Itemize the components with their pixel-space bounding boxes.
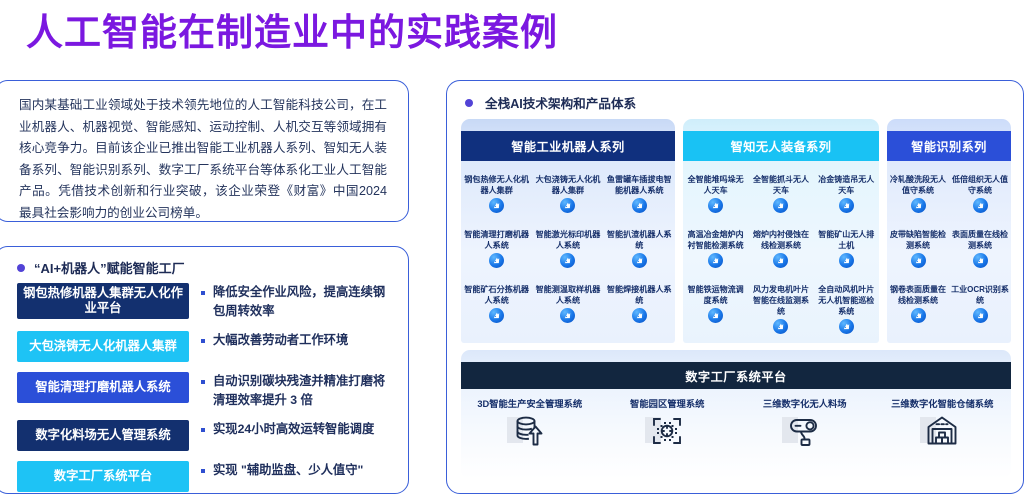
robot-arm-icon xyxy=(914,256,923,265)
product-cell[interactable]: 智能清理打磨机器人系统 xyxy=(461,224,532,279)
bullet-dot-icon xyxy=(17,264,25,272)
intro-panel: 国内某基础工业领域处于技术领先地位的人工智能科技公司，在工业机器人、机器视觉、智… xyxy=(0,80,409,222)
product-label: 智能测温取样机器人系统 xyxy=(534,284,601,306)
product-label: 智能铁运物流调度系统 xyxy=(685,284,746,306)
robot-arm-icon xyxy=(560,308,575,323)
robot-arm-icon xyxy=(632,308,647,323)
robot-arm-icon xyxy=(560,253,575,268)
robot-arm-icon xyxy=(839,198,854,213)
robot-arm-icon xyxy=(632,198,647,213)
platform-item[interactable]: 3D智能生产安全管理系统 xyxy=(461,398,599,447)
robot-arm-icon xyxy=(563,311,572,320)
product-cell[interactable]: 全智能堆吗垛无人天车 xyxy=(683,169,748,224)
platform-item[interactable]: 三维数字化无人料场 xyxy=(736,398,874,447)
product-cell[interactable]: 低倍组织无人值守系统 xyxy=(949,169,1011,224)
product-cell[interactable]: 智能激光标印机器人系统 xyxy=(532,224,603,279)
bullet-dot-icon xyxy=(465,99,473,107)
slide-root: 人工智能在制造业中的实践案例 国内某基础工业领域处于技术领先地位的人工智能科技公… xyxy=(0,0,1024,497)
product-cell[interactable]: 智能焊接机器人系统 xyxy=(604,279,675,334)
robot-arm-icon xyxy=(560,198,575,213)
column-grid: 冷轧酸洗段无人值守系统低倍组织无人值守系统皮带缺陷智能检测系统表面质量在线检测系… xyxy=(887,161,1011,343)
robot-arm-icon xyxy=(973,253,988,268)
product-label: 智能矿山无人排土机 xyxy=(816,229,877,251)
column-title: 智能工业机器人系列 xyxy=(461,131,675,161)
robot-arm-icon xyxy=(773,253,788,268)
left-row: 数字工厂系统平台实现 "辅助监盘、少人值守" xyxy=(17,461,389,492)
chip-description-text: 自动识别碳块残渣并精准打磨将清理效率提升 3 倍 xyxy=(213,372,389,410)
product-chip[interactable]: 数字工厂系统平台 xyxy=(17,461,189,492)
product-label: 全自动风机叶片无人机智能巡检系统 xyxy=(816,284,877,317)
robot-arm-icon xyxy=(776,322,785,331)
column-title: 智知无人装备系列 xyxy=(683,131,879,161)
robot-arm-icon xyxy=(973,198,988,213)
chip-description: 实现24小时高效运转智能调度 xyxy=(201,420,389,439)
intro-paragraph: 国内某基础工业领域处于技术领先地位的人工智能科技公司，在工业机器人、机器视觉、智… xyxy=(19,95,387,224)
chip-description: 大幅改善劳动者工作环境 xyxy=(201,331,389,350)
product-cell[interactable]: 冷轧酸洗段无人值守系统 xyxy=(887,169,949,224)
product-chip[interactable]: 大包浇铸无人化机器人集群 xyxy=(17,331,189,362)
left-list-panel: “AI+机器人”赋能智能工厂 钢包热修机器人集群无人化作业平台降低安全作业风险，… xyxy=(0,246,409,494)
robot-arm-icon xyxy=(708,308,723,323)
product-cell[interactable]: 大包浇铸无人化机器人集群 xyxy=(532,169,603,224)
product-cell[interactable]: 智能矿山无人排土机 xyxy=(814,224,879,279)
product-cell[interactable]: 钢包热修无人化机器人集群 xyxy=(461,169,532,224)
product-label: 智能矿石分拣机器人系统 xyxy=(463,284,530,306)
robot-arm-icon xyxy=(563,256,572,265)
robot-arm-icon xyxy=(711,256,720,265)
robot-arm-icon xyxy=(563,201,572,210)
robot-arm-icon xyxy=(489,308,504,323)
product-label: 低倍组织无人值守系统 xyxy=(951,174,1009,196)
product-label: 冷轧酸洗段无人值守系统 xyxy=(889,174,947,196)
chip-description-text: 实现 "辅助监盘、少人值守" xyxy=(213,461,363,480)
robot-arm-icon xyxy=(914,201,923,210)
product-label: 智能焊接机器人系统 xyxy=(606,284,673,306)
product-label: 高温冶金熔炉内衬智能检测系统 xyxy=(685,229,746,251)
robot-arm-icon xyxy=(708,198,723,213)
robot-arm-icon xyxy=(976,201,985,210)
column-grid: 全智能堆吗垛无人天车全智能抓斗无人天车冶金铸造吊无人天车高温冶金熔炉内衬智能检测… xyxy=(683,161,879,343)
product-cell[interactable]: 智能扒渣机器人系统 xyxy=(604,224,675,279)
product-cell[interactable]: 智能测温取样机器人系统 xyxy=(532,279,603,334)
product-cell[interactable]: 高温冶金熔炉内衬智能检测系统 xyxy=(683,224,748,279)
product-label: 风力发电机叶片智能在线监测系统 xyxy=(750,284,811,317)
platform-title: 数字工厂系统平台 xyxy=(461,362,1011,389)
product-cell[interactable]: 表面质量在线检测系统 xyxy=(949,224,1011,279)
product-column: 智能识别系列冷轧酸洗段无人值守系统低倍组织无人值守系统皮带缺陷智能检测系统表面质… xyxy=(887,119,1011,343)
scan-qr-icon xyxy=(651,415,683,447)
robot-arm-icon xyxy=(973,308,988,323)
robot-arm-icon xyxy=(911,253,926,268)
square-bullet-icon xyxy=(201,380,205,384)
robot-arm-icon xyxy=(773,319,788,334)
product-label: 全智能抓斗无人天车 xyxy=(750,174,811,196)
chip-description-text: 实现24小时高效运转智能调度 xyxy=(213,420,374,439)
platform-card: 数字工厂系统平台 3D智能生产安全管理系统智能园区管理系统三维数字化无人料场三维… xyxy=(461,350,1011,479)
robot-arm-icon xyxy=(776,256,785,265)
robot-arm-icon xyxy=(632,253,647,268)
robot-arm-icon xyxy=(976,256,985,265)
product-column: 智能工业机器人系列钢包热修无人化机器人集群大包浇铸无人化机器人集群鱼雷罐车插拔电… xyxy=(461,119,675,343)
platform-item-list: 3D智能生产安全管理系统智能园区管理系统三维数字化无人料场三维数字化智能仓储系统 xyxy=(461,389,1011,447)
chip-description: 降低安全作业风险，提高连续钢包周转效率 xyxy=(201,283,389,321)
product-label: 钢卷表面质量在线检测系统 xyxy=(889,284,947,306)
robot-arm-icon xyxy=(842,322,851,331)
robot-arm-icon xyxy=(492,256,501,265)
platform-item-label: 智能园区管理系统 xyxy=(630,398,704,411)
product-label: 智能激光标印机器人系统 xyxy=(534,229,601,251)
left-row: 智能清理打磨机器人系统自动识别碳块残渣并精准打磨将清理效率提升 3 倍 xyxy=(17,372,389,410)
right-section-title: 全栈AI技术架构和产品体系 xyxy=(485,93,636,112)
robot-arm-icon xyxy=(492,311,501,320)
product-label: 皮带缺陷智能检测系统 xyxy=(889,229,947,251)
product-cell[interactable]: 风力发电机叶片智能在线监测系统 xyxy=(748,279,813,334)
product-chip[interactable]: 智能清理打磨机器人系统 xyxy=(17,372,189,403)
left-section-title: “AI+机器人”赋能智能工厂 xyxy=(34,258,185,277)
product-cell[interactable]: 智能铁运物流调度系统 xyxy=(683,279,748,334)
product-label: 冶金铸造吊无人天车 xyxy=(816,174,877,196)
product-label: 熔炉内衬侵蚀在线检测系统 xyxy=(750,229,811,251)
chip-description: 自动识别碳块残渣并精准打磨将清理效率提升 3 倍 xyxy=(201,372,389,410)
product-chip[interactable]: 数字化料场无人管理系统 xyxy=(17,420,189,451)
platform-item[interactable]: 三维数字化智能仓储系统 xyxy=(874,398,1012,447)
product-label: 智能扒渣机器人系统 xyxy=(606,229,673,251)
product-column: 智知无人装备系列全智能堆吗垛无人天车全智能抓斗无人天车冶金铸造吊无人天车高温冶金… xyxy=(683,119,879,343)
robot-arm-icon xyxy=(839,253,854,268)
robot-arm-icon xyxy=(635,256,644,265)
database-upload-icon xyxy=(513,415,547,447)
right-section-header: 全栈AI技术架构和产品体系 xyxy=(465,93,636,112)
robot-arm-icon xyxy=(492,201,501,210)
robot-arm-icon xyxy=(635,311,644,320)
platform-item[interactable]: 智能园区管理系统 xyxy=(599,398,737,447)
product-columns: 智能工业机器人系列钢包热修无人化机器人集群大包浇铸无人化机器人集群鱼雷罐车插拔电… xyxy=(461,119,1011,343)
product-cell[interactable]: 熔炉内衬侵蚀在线检测系统 xyxy=(748,224,813,279)
product-cell[interactable]: 全智能抓斗无人天车 xyxy=(748,169,813,224)
robot-arm-icon xyxy=(776,201,785,210)
product-label: 表面质量在线检测系统 xyxy=(951,229,1009,251)
product-label: 工业OCR识别系统 xyxy=(951,284,1009,306)
product-cell[interactable]: 工业OCR识别系统 xyxy=(949,279,1011,334)
square-bullet-icon xyxy=(201,469,205,473)
platform-item-label: 三维数字化无人料场 xyxy=(763,398,847,411)
product-label: 全智能堆吗垛无人天车 xyxy=(685,174,746,196)
column-title: 智能识别系列 xyxy=(887,131,1011,161)
left-section-header: “AI+机器人”赋能智能工厂 xyxy=(17,258,185,277)
robot-arm-icon xyxy=(911,198,926,213)
robot-arm-icon xyxy=(773,198,788,213)
chip-description: 实现 "辅助监盘、少人值守" xyxy=(201,461,389,480)
product-cell[interactable]: 皮带缺陷智能检测系统 xyxy=(887,224,949,279)
product-cell[interactable]: 钢卷表面质量在线检测系统 xyxy=(887,279,949,334)
product-label: 智能清理打磨机器人系统 xyxy=(463,229,530,251)
robot-arm-icon xyxy=(911,308,926,323)
page-title: 人工智能在制造业中的实践案例 xyxy=(26,2,558,56)
left-row: 大包浇铸无人化机器人集群大幅改善劳动者工作环境 xyxy=(17,331,389,362)
square-bullet-icon xyxy=(201,428,205,432)
product-cell[interactable]: 智能矿石分拣机器人系统 xyxy=(461,279,532,334)
left-row: 数字化料场无人管理系统实现24小时高效运转智能调度 xyxy=(17,420,389,451)
chip-description-text: 大幅改善劳动者工作环境 xyxy=(213,331,348,350)
product-cell[interactable]: 鱼雷罐车插拔电智能机器人系统 xyxy=(604,169,675,224)
architecture-panel: 全栈AI技术架构和产品体系 智能工业机器人系列钢包热修无人化机器人集群大包浇铸无… xyxy=(446,80,1024,494)
product-label: 钢包热修无人化机器人集群 xyxy=(463,174,530,196)
product-label: 大包浇铸无人化机器人集群 xyxy=(534,174,601,196)
square-bullet-icon xyxy=(201,339,205,343)
robot-arm-icon xyxy=(489,198,504,213)
robot-arm-icon xyxy=(711,311,720,320)
robot-arm-icon xyxy=(842,201,851,210)
product-label: 鱼雷罐车插拔电智能机器人系统 xyxy=(606,174,673,196)
left-row-list: 钢包热修机器人集群无人化作业平台降低安全作业风险，提高连续钢包周转效率大包浇铸无… xyxy=(17,283,389,502)
robot-arm-icon xyxy=(914,311,923,320)
camera-sensor-icon xyxy=(788,415,822,447)
platform-item-label: 3D智能生产安全管理系统 xyxy=(477,398,582,411)
robot-arm-icon xyxy=(842,256,851,265)
square-bullet-icon xyxy=(201,291,205,295)
warehouse-icon xyxy=(926,415,958,445)
product-cell[interactable]: 全自动风机叶片无人机智能巡检系统 xyxy=(814,279,879,334)
robot-arm-icon xyxy=(711,201,720,210)
robot-arm-icon xyxy=(839,319,854,334)
robot-arm-icon xyxy=(708,253,723,268)
left-row: 钢包热修机器人集群无人化作业平台降低安全作业风险，提高连续钢包周转效率 xyxy=(17,283,389,321)
robot-arm-icon xyxy=(635,201,644,210)
robot-arm-icon xyxy=(976,311,985,320)
column-grid: 钢包热修无人化机器人集群大包浇铸无人化机器人集群鱼雷罐车插拔电智能机器人系统智能… xyxy=(461,161,675,343)
product-cell[interactable]: 冶金铸造吊无人天车 xyxy=(814,169,879,224)
platform-item-label: 三维数字化智能仓储系统 xyxy=(891,398,993,411)
product-chip[interactable]: 钢包热修机器人集群无人化作业平台 xyxy=(17,283,189,319)
robot-arm-icon xyxy=(489,253,504,268)
chip-description-text: 降低安全作业风险，提高连续钢包周转效率 xyxy=(213,283,389,321)
